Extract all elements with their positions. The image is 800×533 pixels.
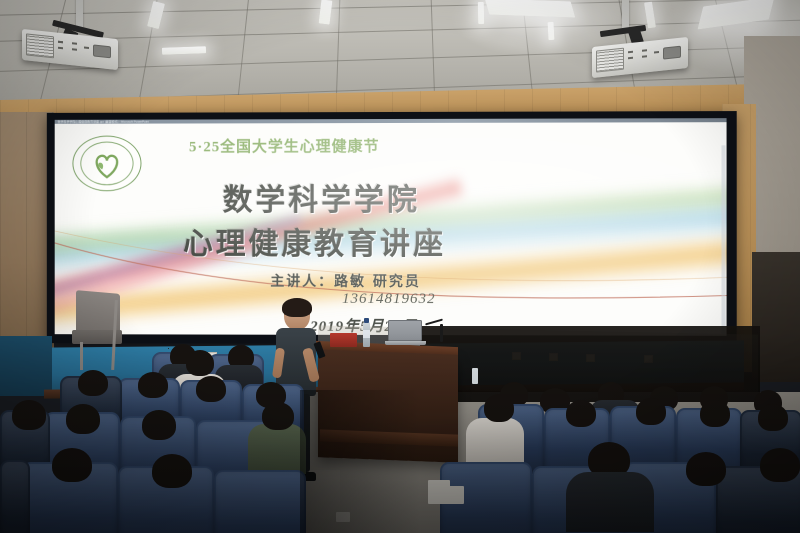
powerpoint-titlebar: 数学科学学院心理健康教育讲座.ppt [兼容模式] - Microsoft Po… xyxy=(55,118,727,124)
ceiling-light xyxy=(548,22,555,40)
audience-head xyxy=(484,394,514,422)
heart-leaf-logo-icon xyxy=(72,136,141,192)
audience-head xyxy=(262,402,294,430)
audience-head xyxy=(152,454,192,488)
audience-head xyxy=(196,376,226,402)
audience-head xyxy=(758,404,788,431)
slide-scrollbar[interactable] xyxy=(721,123,725,334)
projector-mount-pole-right xyxy=(622,0,629,28)
audience-head xyxy=(168,348,169,349)
audience-head xyxy=(138,372,168,398)
audience-head xyxy=(52,448,92,482)
projector-lens-icon xyxy=(663,46,681,60)
audience-head xyxy=(186,350,214,376)
logo-heart-icon xyxy=(73,137,140,191)
ceiling-light xyxy=(485,0,576,18)
ceiling-grid-line xyxy=(235,0,251,100)
slide-title-line-1: 数学科学学院 xyxy=(223,175,420,219)
seat[interactable] xyxy=(0,460,30,533)
projector-lens-icon xyxy=(93,44,111,58)
audience-shoulders xyxy=(566,472,654,532)
seat[interactable] xyxy=(214,470,306,533)
projector-ports xyxy=(58,41,92,59)
water-bottle-label xyxy=(363,330,370,338)
laptop-on-podium-screen[interactable] xyxy=(388,320,422,341)
projector-ports xyxy=(628,48,662,66)
paper-on-floor xyxy=(336,512,350,522)
stage-front-wall-left xyxy=(0,336,52,396)
ceiling-light xyxy=(162,46,206,55)
bag-on-floor xyxy=(428,480,450,504)
audience-head xyxy=(686,452,726,486)
ceiling-light xyxy=(319,0,333,25)
water-bottle-cap xyxy=(364,318,369,323)
ceiling-grid-line xyxy=(0,0,800,17)
water-bottle-on-stage-edge xyxy=(472,368,478,384)
audience-head xyxy=(700,400,730,427)
podium-microphone-stand xyxy=(440,324,443,342)
laptop-on-podium-base xyxy=(385,341,426,345)
bag-on-floor xyxy=(448,486,464,504)
slide-header-line: 5·25全国大学生心理健康节 xyxy=(189,135,380,156)
audience-head xyxy=(760,448,800,482)
audience-person-olive-shirt xyxy=(248,424,306,474)
audience-head xyxy=(566,400,596,427)
presenter-hair xyxy=(282,298,312,317)
red-box-on-podium[interactable] xyxy=(330,333,357,347)
audience-head xyxy=(142,410,176,440)
audience-head xyxy=(78,370,108,396)
audience-person-patterned-blouse xyxy=(466,418,524,464)
ceiling-grid-line xyxy=(335,0,341,100)
ceiling-light xyxy=(147,1,165,29)
slide-title-line-2: 心理健康教育讲座 xyxy=(183,219,446,263)
lecture-hall-photo: 数学科学学院心理健康教育讲座.ppt [兼容模式] - Microsoft Po… xyxy=(0,0,800,533)
audience-head xyxy=(636,398,666,425)
slide-speaker-line: 主讲人：路敏 研究员 xyxy=(270,271,421,291)
slide-phone-number: 13614819632 xyxy=(342,291,435,308)
audience-head xyxy=(66,404,100,434)
ceiling-light xyxy=(478,2,484,24)
projection-screen-frame: 数学科学学院心理健康教育讲座.ppt [兼容模式] - Microsoft Po… xyxy=(47,111,737,345)
chair-on-stage-leg xyxy=(80,342,83,370)
ceiling-light xyxy=(697,0,774,30)
ceiling-grid-line xyxy=(430,0,436,100)
audience-head xyxy=(12,400,46,430)
presentation-slide[interactable]: 数学科学学院心理健康教育讲座.ppt [兼容模式] - Microsoft Po… xyxy=(55,118,727,336)
